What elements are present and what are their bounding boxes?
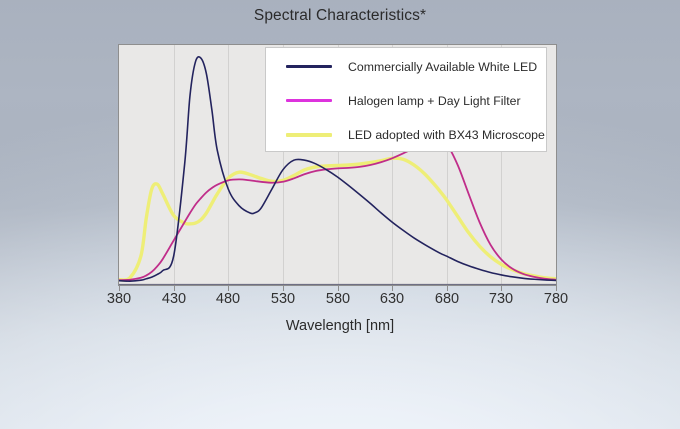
x-tick-label: 680 (424, 291, 470, 307)
legend-item-label: LED adopted with BX43 Microscope (348, 128, 545, 142)
legend-color-swatch (286, 99, 332, 102)
spectral-characteristics-figure: Spectral Characteristics* 38043048053058… (0, 0, 680, 429)
legend-item[interactable]: LED adopted with BX43 Microscope (266, 117, 548, 152)
legend-color-swatch (286, 65, 332, 68)
legend-item-label: Halogen lamp + Day Light Filter (348, 94, 521, 108)
x-tick-label: 430 (151, 291, 197, 307)
x-tick-label: 530 (260, 291, 306, 307)
x-tick-label: 580 (315, 291, 361, 307)
page-title: Spectral Characteristics* (0, 7, 680, 25)
legend-item[interactable]: Commercially Available White LED (266, 49, 548, 84)
x-tick-label: 730 (478, 291, 524, 307)
x-tick-label: 780 (533, 291, 579, 307)
x-axis-label: Wavelength [nm] (0, 318, 680, 334)
x-tick-label: 630 (369, 291, 415, 307)
legend-item[interactable]: Halogen lamp + Day Light Filter (266, 83, 548, 118)
x-tick-label: 380 (96, 291, 142, 307)
legend: Commercially Available White LEDHalogen … (265, 47, 547, 152)
x-tick-label: 480 (205, 291, 251, 307)
legend-color-swatch (286, 133, 332, 137)
legend-item-label: Commercially Available White LED (348, 60, 537, 74)
